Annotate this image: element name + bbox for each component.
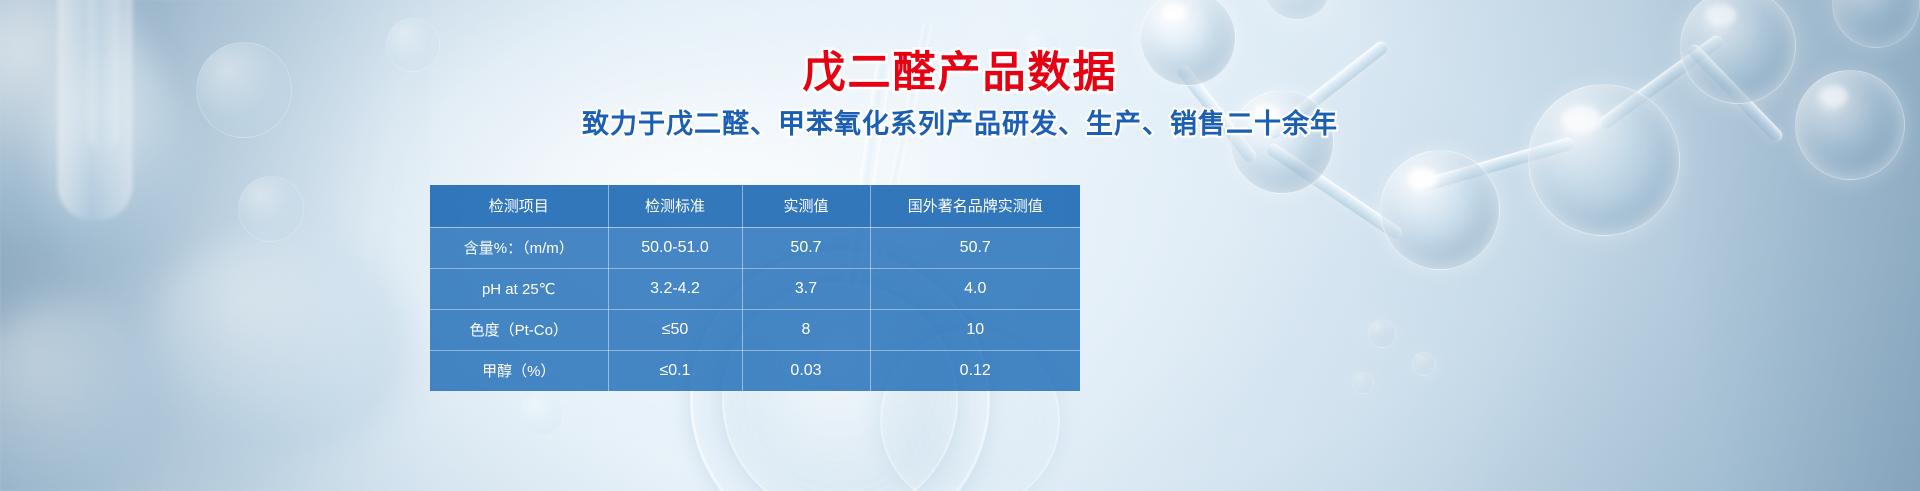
table-row: 含量%：（m/m） 50.0-51.0 50.7 50.7 [430, 227, 1080, 268]
cell-item: 色度（Pt-Co） [430, 309, 608, 350]
cell-standard: 50.0-51.0 [608, 227, 742, 268]
header-cell-measured: 实测值 [742, 185, 870, 227]
page-title: 戊二醛产品数据 [0, 48, 1920, 99]
table-row: pH at 25℃ 3.2-4.2 3.7 4.0 [430, 268, 1080, 309]
cell-foreign: 4.0 [870, 268, 1080, 309]
product-data-banner: 戊二醛产品数据 致力于戊二醛、甲苯氧化系列产品研发、生产、销售二十余年 检测项目… [0, 0, 1920, 491]
header-cell-foreign: 国外著名品牌实测值 [870, 185, 1080, 227]
cell-measured: 8 [742, 309, 870, 350]
cell-item: 甲醇（%） [430, 350, 608, 391]
cell-foreign: 0.12 [870, 350, 1080, 391]
table-row: 甲醇（%） ≤0.1 0.03 0.12 [430, 350, 1080, 391]
banner-headings: 戊二醛产品数据 致力于戊二醛、甲苯氧化系列产品研发、生产、销售二十余年 [0, 48, 1920, 141]
product-data-table: 检测项目 检测标准 实测值 国外著名品牌实测值 含量%：（m/m） 50.0-5… [430, 185, 1080, 391]
product-data-table-wrap: 检测项目 检测标准 实测值 国外著名品牌实测值 含量%：（m/m） 50.0-5… [430, 185, 1080, 391]
cell-foreign: 50.7 [870, 227, 1080, 268]
cell-measured: 3.7 [742, 268, 870, 309]
cell-standard: 3.2-4.2 [608, 268, 742, 309]
table-header-row: 检测项目 检测标准 实测值 国外著名品牌实测值 [430, 185, 1080, 227]
cell-standard: ≤50 [608, 309, 742, 350]
cell-standard: ≤0.1 [608, 350, 742, 391]
cell-measured: 0.03 [742, 350, 870, 391]
header-cell-item: 检测项目 [430, 185, 608, 227]
cell-item: pH at 25℃ [430, 268, 608, 309]
page-subtitle: 致力于戊二醛、甲苯氧化系列产品研发、生产、销售二十余年 [0, 108, 1920, 142]
cell-item: 含量%：（m/m） [430, 227, 608, 268]
header-cell-standard: 检测标准 [608, 185, 742, 227]
table-row: 色度（Pt-Co） ≤50 8 10 [430, 309, 1080, 350]
cell-foreign: 10 [870, 309, 1080, 350]
cell-measured: 50.7 [742, 227, 870, 268]
